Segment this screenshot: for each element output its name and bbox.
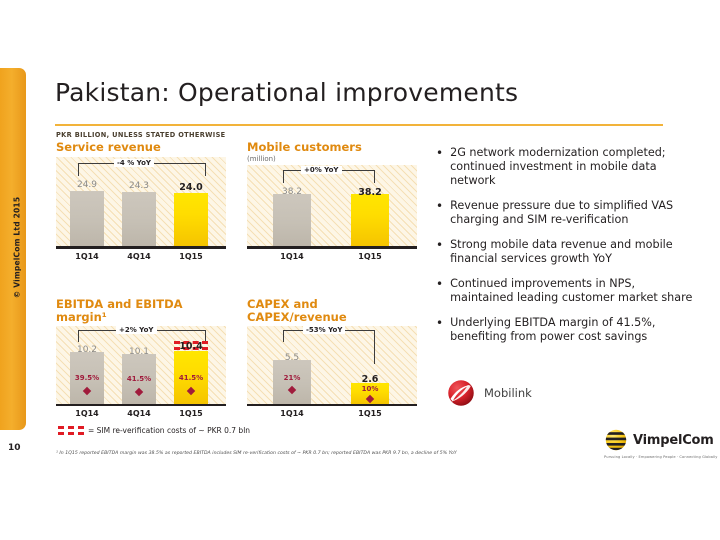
bullet-text: 2G network modernization completed; cont…	[450, 146, 696, 188]
mobilink-logo: Mobilink	[446, 378, 532, 408]
bullet-icon: •	[436, 146, 443, 188]
bar-1q14: 39.5%	[70, 352, 104, 404]
bar-1q15	[351, 194, 389, 246]
yoy-label: +2% YoY	[116, 326, 157, 334]
bar-1q14	[70, 191, 104, 246]
mobilink-wordmark: Mobilink	[484, 386, 532, 400]
page-number: 10	[8, 443, 21, 453]
bar-value-1q14: 24.9	[70, 180, 104, 190]
x-axis-labels: 1Q14 4Q14 1Q15	[56, 406, 226, 420]
x-label-1q15: 1Q15	[174, 252, 208, 261]
plot-area: -4 % YoY 24.9 24.3 24.0	[56, 157, 226, 249]
list-item: • 2G network modernization completed; co…	[436, 146, 696, 188]
bar-1q14	[273, 194, 311, 246]
bar-value-1q14: 38.2	[273, 187, 311, 197]
bar-value-1q15: 38.2	[351, 187, 389, 198]
list-item: • Strong mobile data revenue and mobile …	[436, 238, 696, 266]
chart-ebitda: EBITDA and EBITDA margin¹ +2% YoY 39.5% …	[56, 298, 226, 420]
footnote: ¹ In 1Q15 reported EBITDA margin was 38.…	[56, 450, 656, 457]
units-caption: PKR BILLION, UNLESS STATED OTHERWISE	[56, 131, 226, 139]
bullet-text: Continued improvements in NPS, maintaine…	[450, 277, 696, 305]
vimpelcom-tagline: Pursuing Locally · Empowering People · C…	[604, 455, 712, 459]
chart-title: CAPEX and CAPEX/revenue	[247, 298, 417, 323]
margin-marker-4q14	[135, 388, 143, 396]
bullet-text: Revenue pressure due to simplified VAS c…	[450, 199, 696, 227]
sim-cost-legend-label: = SIM re-verification costs of ~ PKR 0.7…	[88, 426, 250, 435]
x-label-1q15: 1Q15	[351, 252, 389, 261]
vimpelcom-wordmark: VimpelCom	[633, 433, 714, 448]
yoy-label: -4 % YoY	[114, 159, 154, 167]
margin-label-1q14: 21%	[273, 374, 311, 382]
bar-value-1q14: 5.5	[273, 353, 311, 363]
x-label-4q14: 4Q14	[122, 409, 156, 418]
page-title: Pakistan: Operational improvements	[55, 78, 518, 107]
plot-area: -53% YoY 21% 10% 5.5 2.6	[247, 326, 417, 406]
bar-1q15: 41.5%	[174, 351, 208, 404]
bullet-icon: •	[436, 277, 443, 305]
bar-1q15	[174, 193, 208, 246]
bar-1q14: 21%	[273, 360, 311, 404]
bar-1q15: 10%	[351, 383, 389, 404]
copyright-label: © VimpelCom Ltd 2015	[13, 163, 22, 333]
x-label-1q15: 1Q15	[351, 409, 389, 418]
margin-label-1q15: 10%	[351, 385, 389, 393]
margin-marker-1q14	[83, 387, 91, 395]
mobilink-swirl-icon	[446, 378, 476, 408]
x-axis-labels: 1Q14 1Q15	[247, 406, 417, 420]
title-divider	[55, 124, 663, 126]
yoy-bracket: +0% YoY	[283, 170, 375, 184]
bar-4q14	[122, 192, 156, 246]
bar-value-1q15: 10.4	[174, 341, 208, 352]
margin-label-4q14: 41.5%	[122, 375, 156, 383]
plot-area: +2% YoY 39.5% 41.5% 41.5% 10.2 10.1 10.4	[56, 326, 226, 406]
bullet-text: Strong mobile data revenue and mobile fi…	[450, 238, 696, 266]
plot-area: +0% YoY 38.2 38.2	[247, 165, 417, 249]
vimpelcom-logo: VimpelCom Pursuing Locally · Empowering …	[604, 428, 712, 459]
yoy-bracket: -53% YoY	[283, 330, 375, 343]
bar-4q14: 41.5%	[122, 354, 156, 404]
chart-title: Mobile customers	[247, 141, 417, 154]
margin-marker-1q14	[288, 386, 296, 394]
list-item: • Underlying EBITDA margin of 41.5%, ben…	[436, 316, 696, 344]
margin-marker-1q15	[366, 395, 374, 403]
bar-value-4q14: 10.1	[122, 347, 156, 357]
margin-label-1q15: 41.5%	[174, 374, 208, 382]
key-highlights-list: • 2G network modernization completed; co…	[436, 146, 696, 355]
slide-canvas: © VimpelCom Ltd 2015 10 Pakistan: Operat…	[0, 0, 720, 540]
chart-title: Service revenue	[56, 141, 226, 154]
chart-service-revenue: Service revenue -4 % YoY 24.9 24.3 24.0 …	[56, 141, 226, 263]
x-axis-labels: 1Q14 4Q14 1Q15	[56, 249, 226, 263]
x-label-1q14: 1Q14	[70, 409, 104, 418]
chart-subtitle: (million)	[247, 155, 417, 163]
x-label-4q14: 4Q14	[122, 252, 156, 261]
x-label-1q14: 1Q14	[273, 252, 311, 261]
sim-cost-legend: = SIM re-verification costs of ~ PKR 0.7…	[58, 426, 250, 435]
chart-title: EBITDA and EBITDA margin¹	[56, 298, 226, 323]
bullet-icon: •	[436, 199, 443, 227]
bullet-icon: •	[436, 316, 443, 344]
bullet-text: Underlying EBITDA margin of 41.5%, benef…	[450, 316, 696, 344]
yoy-label: +0% YoY	[301, 166, 342, 174]
sim-cost-swatch	[58, 426, 84, 435]
bullet-icon: •	[436, 238, 443, 266]
yoy-label: -53% YoY	[303, 326, 345, 334]
chart-mobile-customers: Mobile customers (million) +0% YoY 38.2 …	[247, 141, 417, 263]
margin-label-1q14: 39.5%	[70, 374, 104, 382]
x-label-1q15: 1Q15	[174, 409, 208, 418]
x-label-1q14: 1Q14	[273, 409, 311, 418]
list-item: • Revenue pressure due to simplified VAS…	[436, 199, 696, 227]
yoy-bracket: -4 % YoY	[78, 163, 206, 177]
bar-value-4q14: 24.3	[122, 181, 156, 191]
vimpelcom-bee-icon	[604, 428, 628, 452]
list-item: • Continued improvements in NPS, maintai…	[436, 277, 696, 305]
bar-value-1q15: 24.0	[174, 182, 208, 193]
x-label-1q14: 1Q14	[70, 252, 104, 261]
bar-value-1q15: 2.6	[351, 374, 389, 385]
margin-marker-1q15	[187, 387, 195, 395]
chart-capex: CAPEX and CAPEX/revenue -53% YoY 21% 10%…	[247, 298, 417, 420]
bar-value-1q14: 10.2	[70, 345, 104, 355]
x-axis-labels: 1Q14 1Q15	[247, 249, 417, 263]
